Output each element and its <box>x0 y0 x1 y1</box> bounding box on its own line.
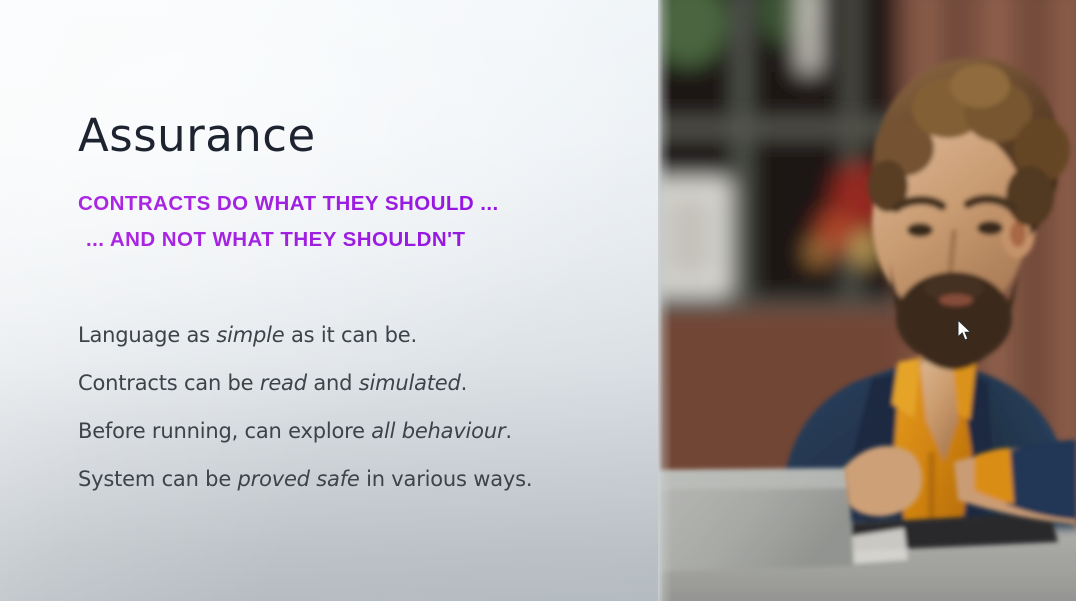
bullet-line: System can be proved safe in various way… <box>78 455 623 503</box>
bullet-text-post: . <box>505 419 511 443</box>
slide-subtitle: CONTRACTS DO WHAT THEY SHOULD ... ... AN… <box>78 186 618 258</box>
slide-content: Assurance CONTRACTS DO WHAT THEY SHOULD … <box>78 0 638 601</box>
slide-screenshot: Assurance CONTRACTS DO WHAT THEY SHOULD … <box>0 0 1076 601</box>
bullet-line: Before running, can explore all behaviou… <box>78 407 623 455</box>
slide-title: Assurance <box>78 113 316 158</box>
bullet-text-emphasis: all behaviour <box>371 419 505 443</box>
bullet-text-emphasis: proved safe <box>238 467 360 491</box>
bullet-text-pre: Language as <box>78 323 216 347</box>
presenter-photo <box>658 0 1076 601</box>
bullet-text-post: . <box>461 371 467 395</box>
bullet-text-post: in various ways. <box>360 467 533 491</box>
slide-subtitle-line-1: CONTRACTS DO WHAT THEY SHOULD ... <box>78 186 618 222</box>
slide-bullet-list: Language as simple as it can be. Contrac… <box>78 311 623 503</box>
bullet-text-emphasis-2: simulated <box>359 371 461 395</box>
bullet-text-post: as it can be. <box>285 323 417 347</box>
bullet-text-pre: Contracts can be <box>78 371 260 395</box>
slide-subtitle-line-2: ... AND NOT WHAT THEY SHOULDN'T <box>78 222 618 258</box>
bullet-text-emphasis: read <box>260 371 307 395</box>
bullet-line: Contracts can be read and simulated. <box>78 359 623 407</box>
presenter-photo-image <box>658 0 1076 601</box>
bullet-text-mid: and <box>307 371 359 395</box>
slide-panel: Assurance CONTRACTS DO WHAT THEY SHOULD … <box>0 0 658 601</box>
bullet-text-pre: System can be <box>78 467 238 491</box>
bullet-text-pre: Before running, can explore <box>78 419 371 443</box>
bullet-line: Language as simple as it can be. <box>78 311 623 359</box>
bullet-text-emphasis: simple <box>216 323 284 347</box>
